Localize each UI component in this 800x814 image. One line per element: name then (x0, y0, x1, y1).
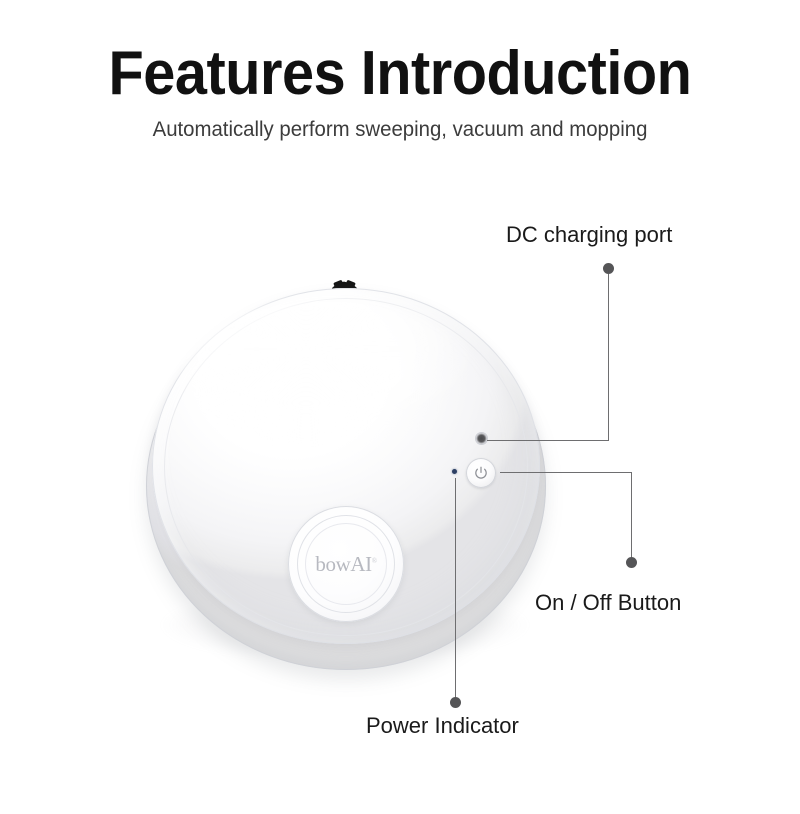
callout-line-dc-vertical (608, 274, 609, 441)
callout-dot-on-off-button (626, 557, 637, 568)
robot-vacuum-body: bowAI® (146, 288, 546, 678)
power-icon (473, 465, 489, 481)
brand-logo: bowAI® (315, 554, 376, 575)
callout-dot-dc-charging-port (603, 263, 614, 274)
callout-dot-power-indicator (450, 697, 461, 708)
callout-line-power-indicator-vertical (455, 478, 456, 702)
callout-line-dc-horizontal (487, 440, 609, 441)
callout-label-dc-charging-port: DC charging port (506, 222, 672, 248)
power-indicator-led (452, 469, 457, 474)
power-button[interactable] (466, 458, 496, 488)
callout-label-on-off-button: On / Off Button (535, 590, 681, 616)
callout-line-onoff-vertical (631, 472, 632, 562)
callout-label-power-indicator: Power Indicator (366, 713, 519, 739)
brand-medallion: bowAI® (288, 506, 404, 622)
brand-logo-text: bowAI (315, 552, 371, 576)
product-illustration: bowAI® DC charging port On / Off Button … (0, 0, 800, 814)
callout-line-onoff-horizontal (500, 472, 631, 473)
dc-charging-port[interactable] (476, 433, 487, 444)
brand-trademark-symbol: ® (372, 557, 377, 565)
